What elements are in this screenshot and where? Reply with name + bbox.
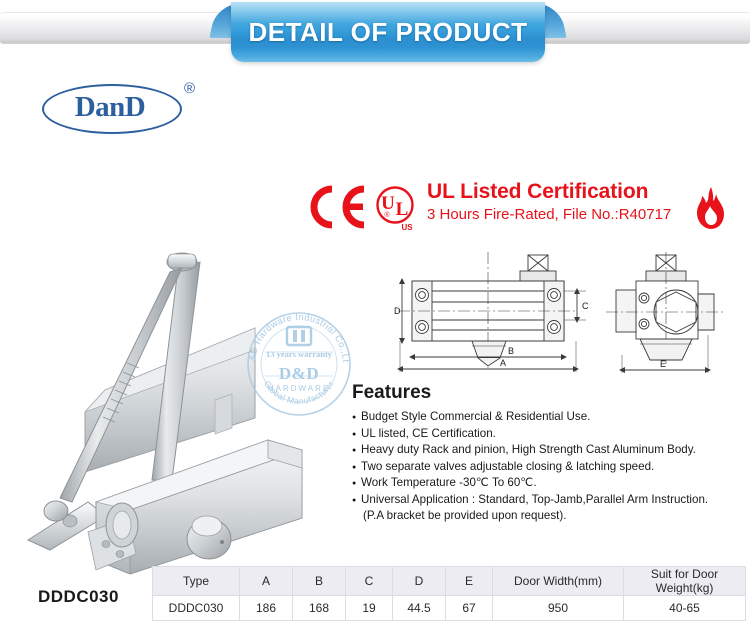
table-row: DDDC030 186 168 19 44.5 67 950 40-65 (153, 596, 746, 621)
specification-table: Type A B C D E Door Width(mm) Suit for D… (152, 566, 746, 621)
column-header-b: B (293, 567, 346, 596)
cell-c: 19 (346, 596, 393, 621)
svg-text:®: ® (384, 211, 390, 219)
features-section: Features Budget Style Commercial & Resid… (352, 382, 750, 525)
cell-door-weight: 40-65 (624, 596, 746, 621)
registered-trademark-icon: ® (184, 80, 195, 97)
front-view-drawing: D C B A (394, 252, 589, 372)
model-label: DDDC030 (38, 587, 119, 607)
watermark-brand: D&D (243, 364, 355, 384)
brand-logo: DanD ® (36, 74, 226, 136)
svg-text:US: US (401, 223, 413, 232)
certification-title: UL Listed Certification (427, 180, 648, 204)
feature-item: UL listed, CE Certification. (352, 426, 750, 443)
watermark-warranty: 13 years warranty (243, 349, 355, 359)
side-view-drawing: E (606, 252, 724, 373)
feature-item: Two separate valves adjustable closing &… (352, 459, 750, 476)
certification-row: U L ® US UL Listed Certification 3 Hours… (305, 180, 745, 238)
svg-text:L: L (396, 199, 409, 220)
certification-subtitle: 3 Hours Fire-Rated, File No.:R40717 (427, 206, 671, 223)
column-header-e: E (446, 567, 493, 596)
dim-label-c: C (582, 301, 589, 311)
ce-mark-icon (308, 184, 370, 230)
cell-b: 168 (293, 596, 346, 621)
features-heading: Features (352, 382, 750, 404)
cell-d: 44.5 (393, 596, 446, 621)
dim-label-e: E (660, 359, 666, 369)
flame-icon (693, 186, 727, 230)
technical-drawings: D C B A (362, 250, 750, 382)
dim-label-b: B (508, 346, 514, 356)
feature-item: Heavy duty Rack and pinion, High Strengt… (352, 442, 750, 459)
watermark-sub-brand: HARDWARE (243, 384, 355, 393)
feature-continuation: (P.A bracket be provided upon request). (352, 508, 750, 525)
feature-item: Work Temperature -30℃ To 60℃. (352, 475, 750, 492)
ul-mark-icon: U L ® US (375, 185, 419, 233)
banner-title: DETAIL OF PRODUCT (231, 2, 545, 62)
table-header-row: Type A B C D E Door Width(mm) Suit for D… (153, 567, 746, 596)
cell-e: 67 (446, 596, 493, 621)
column-header-door-weight: Suit for Door Weight(kg) (624, 567, 746, 596)
column-header-a: A (240, 567, 293, 596)
column-header-type: Type (153, 567, 240, 596)
column-header-d: D (393, 567, 446, 596)
svg-text:U: U (381, 193, 395, 214)
column-header-door-width: Door Width(mm) (493, 567, 624, 596)
watermark-stamp: D&D Hardware Industrial Co.,Ltd Global M… (243, 308, 355, 420)
feature-item: Budget Style Commercial & Residential Us… (352, 409, 750, 426)
product-detail-page: DETAIL OF PRODUCT DanD ® (0, 0, 750, 643)
brand-name: DanD (42, 84, 178, 130)
dim-label-a: A (500, 358, 506, 368)
cell-a: 186 (240, 596, 293, 621)
header-ribbon: DETAIL OF PRODUCT (213, 0, 563, 68)
feature-item: Universal Application : Standard, Top-Ja… (352, 492, 750, 509)
dim-label-d: D (394, 306, 401, 316)
column-header-c: C (346, 567, 393, 596)
cell-door-width: 950 (493, 596, 624, 621)
cell-type: DDDC030 (153, 596, 240, 621)
